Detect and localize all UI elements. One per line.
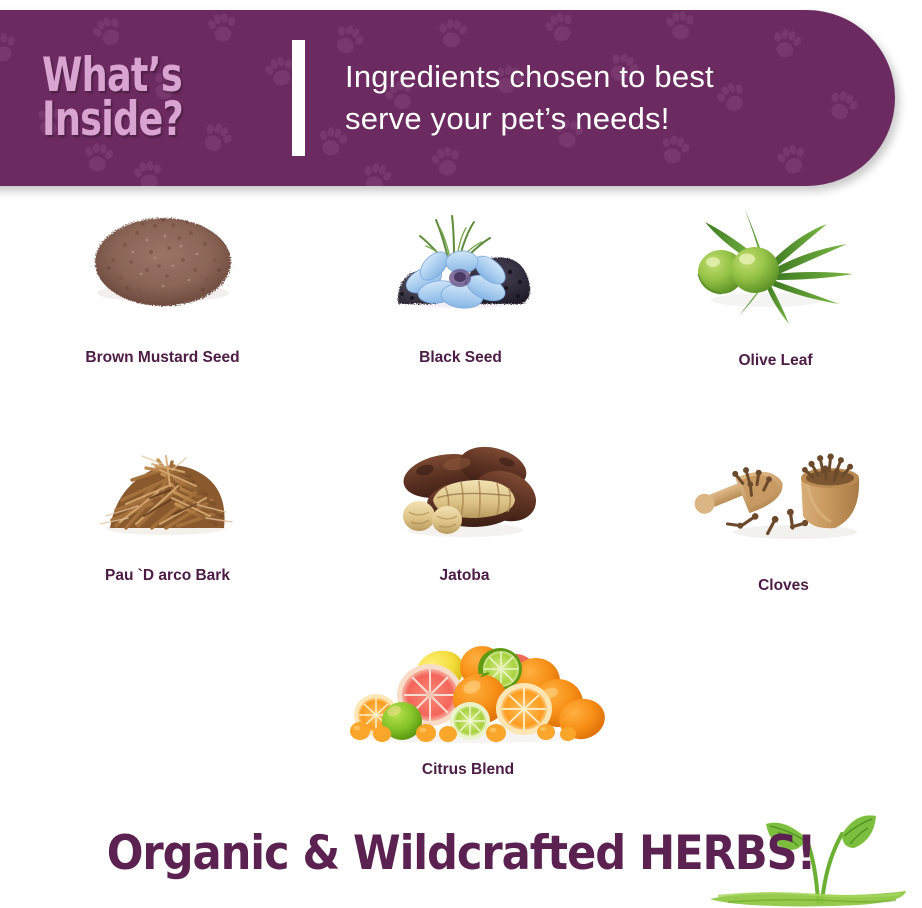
ingredient-label: Cloves xyxy=(758,577,809,595)
ingredient-label: Olive Leaf xyxy=(738,352,812,370)
ingredient-label: Pau `D arco Bark xyxy=(105,567,230,585)
jatoba-image xyxy=(365,420,565,555)
ingredient-row: Citrus Blend xyxy=(0,637,922,779)
cloves-image xyxy=(683,420,883,555)
ingredient-item: Black Seed xyxy=(307,200,614,370)
pau-darco-bark-image xyxy=(66,420,266,555)
ingredient-label: Brown Mustard Seed xyxy=(85,349,239,367)
ingredient-item: Cloves xyxy=(614,420,921,595)
black-seed-image xyxy=(362,200,562,335)
header-banner: What’s Inside? Ingredients chosen to bes… xyxy=(0,10,895,186)
ingredient-row: Pau `D arco Bark xyxy=(0,420,922,595)
ingredient-label: Citrus Blend xyxy=(422,761,514,779)
footer-tagline: Organic & Wildcrafted HERBS! xyxy=(37,826,885,881)
footer-tagline-area: Organic & Wildcrafted HERBS! xyxy=(0,826,922,906)
ingredient-grid: Brown Mustard Seed xyxy=(0,200,922,779)
ingredient-label: Black Seed xyxy=(419,349,502,367)
banner-divider xyxy=(292,40,305,156)
ingredient-item: Jatoba xyxy=(307,420,614,595)
ingredient-item: Brown Mustard Seed xyxy=(0,200,307,370)
ingredient-label: Jatoba xyxy=(440,567,490,585)
ingredient-item: Citrus Blend xyxy=(316,637,606,779)
ingredient-item: Pau `D arco Bark xyxy=(0,420,307,595)
brown-mustard-seed-image xyxy=(63,200,263,335)
banner-subtitle: Ingredients chosen to best serve your pe… xyxy=(345,56,714,140)
ingredient-item: Olive Leaf xyxy=(614,200,921,370)
olive-leaf-image xyxy=(675,200,875,335)
citrus-blend-image xyxy=(330,637,606,747)
ingredient-row: Brown Mustard Seed xyxy=(0,200,922,370)
green-brush-stroke xyxy=(708,886,908,908)
banner-title: What’s Inside? xyxy=(42,54,276,141)
